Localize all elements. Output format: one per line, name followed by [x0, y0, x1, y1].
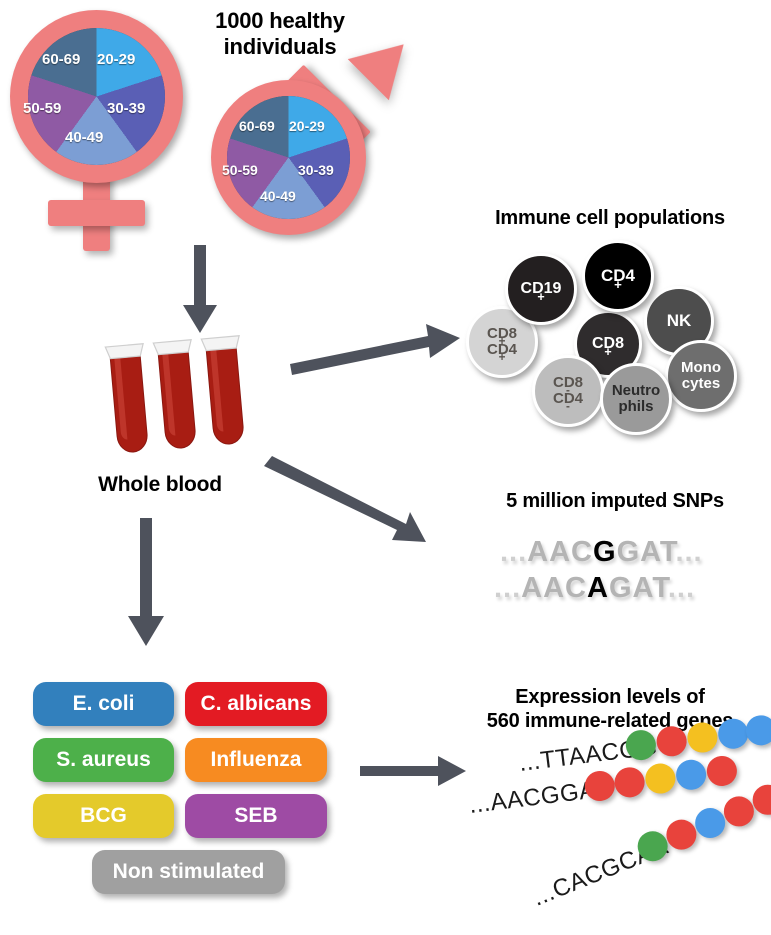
cell-label: CD4+: [601, 267, 635, 285]
immune-cell-cd4-positive: CD4+: [582, 240, 654, 312]
female-pie-label-30-39: 30-39: [107, 100, 145, 117]
dna-bead: [644, 762, 677, 795]
dna-bead: [705, 754, 738, 787]
dna-bead: [716, 717, 749, 750]
male-pie-label-40-49: 40-49: [260, 188, 296, 204]
immune-cell-cd8-positive: CD8+: [574, 310, 642, 378]
cell-label-line2: CD4+: [487, 342, 517, 358]
stimulus-influenza[interactable]: Influenza: [185, 738, 327, 782]
figure-canvas: 1000 healthy individuals 20-29 30-39 40-…: [0, 0, 771, 922]
cell-label: NK: [667, 312, 692, 330]
stimulus-seb[interactable]: SEB: [185, 794, 327, 838]
stimulus-label: SEB: [234, 804, 277, 828]
stimulus-s-aureus[interactable]: S. aureus: [33, 738, 174, 782]
cell-label: CD19+: [521, 281, 562, 298]
dna-bead: [744, 714, 771, 747]
snp-right: GAT: [617, 536, 676, 568]
cell-label-line1: CD8-: [553, 375, 583, 391]
arrow-stimuli-to-expression: [360, 752, 470, 792]
cell-label-line1: Neutro: [612, 383, 660, 399]
snp-title: 5 million imputed SNPs: [465, 490, 765, 514]
cohort-title: 1000 healthy individuals: [180, 8, 380, 60]
arrow-cohort-to-blood: [175, 245, 225, 335]
immune-cell-cd8-negative-cd4-negative: CD8- CD4-: [532, 355, 604, 427]
cell-label-line2: cytes: [681, 376, 721, 392]
stimulus-label: S. aureus: [56, 748, 151, 772]
blood-tube-3: [196, 335, 258, 450]
snp-sequence-2: ...AACAGAT...: [494, 572, 695, 605]
snp-suffix: ...: [675, 536, 702, 568]
male-pie-label-60-69: 60-69: [239, 118, 275, 134]
female-pie-label-40-49: 40-49: [65, 129, 103, 146]
immune-title: Immune cell populations: [455, 207, 765, 231]
arrow-blood-to-stimuli: [124, 518, 168, 650]
female-pie-label-60-69: 60-69: [42, 51, 80, 68]
arrow-blood-to-snp: [258, 420, 458, 550]
cell-label-line2: CD4-: [553, 391, 583, 407]
immune-cell-neutrophils: Neutro phils: [600, 363, 672, 435]
stimulus-label: Non stimulated: [113, 860, 265, 884]
stimulus-label: E. coli: [73, 692, 135, 716]
snp-prefix: ...: [500, 536, 527, 568]
cell-label-line1: CD8+: [487, 326, 517, 342]
cohort-title-line1: 1000 healthy: [180, 8, 380, 34]
immune-cell-cd8-positive-cd4-positive: CD8+ CD4+: [466, 306, 538, 378]
female-symbol-cross: [48, 200, 145, 226]
male-pie-label-20-29: 20-29: [289, 118, 325, 134]
snp-variant: A: [587, 572, 609, 604]
dna-bead: [655, 725, 688, 758]
immune-cell-nk: NK: [644, 286, 714, 356]
female-pie-label-50-59: 50-59: [23, 100, 61, 117]
immune-cell-cd19-positive: CD19+: [505, 253, 577, 325]
snp-prefix: ...: [494, 572, 521, 604]
stimulus-label: BCG: [80, 804, 127, 828]
dna-bead: [674, 758, 707, 791]
snp-variant: G: [593, 536, 617, 568]
immune-cell-monocytes: Mono cytes: [665, 340, 737, 412]
dna-bead: [613, 766, 646, 799]
stimulus-label: C. albicans: [201, 692, 312, 716]
snp-left: AAC: [527, 536, 593, 568]
stimulus-e-coli[interactable]: E. coli: [33, 682, 174, 726]
stimulus-bcg[interactable]: BCG: [33, 794, 174, 838]
whole-blood-label: Whole blood: [60, 473, 260, 498]
male-pie-label-50-59: 50-59: [222, 162, 258, 178]
snp-sequence-1: ...AACGGAT...: [500, 536, 703, 569]
male-pie-label-30-39: 30-39: [298, 162, 334, 178]
stimulus-c-albicans[interactable]: C. albicans: [185, 682, 327, 726]
cell-label-line2: phils: [612, 399, 660, 415]
snp-suffix: ...: [668, 572, 695, 604]
cell-label-line1: Mono: [681, 360, 721, 376]
stimulus-non-stimulated[interactable]: Non stimulated: [92, 850, 285, 894]
snp-right: GAT: [609, 572, 668, 604]
stimulus-label: Influenza: [210, 748, 301, 772]
dna-bead: [686, 721, 719, 754]
cell-label: CD8+: [592, 336, 624, 353]
arrow-blood-to-immune: [288, 318, 463, 378]
female-pie-label-20-29: 20-29: [97, 51, 135, 68]
expression-title-line1: Expression levels of: [452, 686, 768, 710]
snp-left: AAC: [521, 572, 587, 604]
